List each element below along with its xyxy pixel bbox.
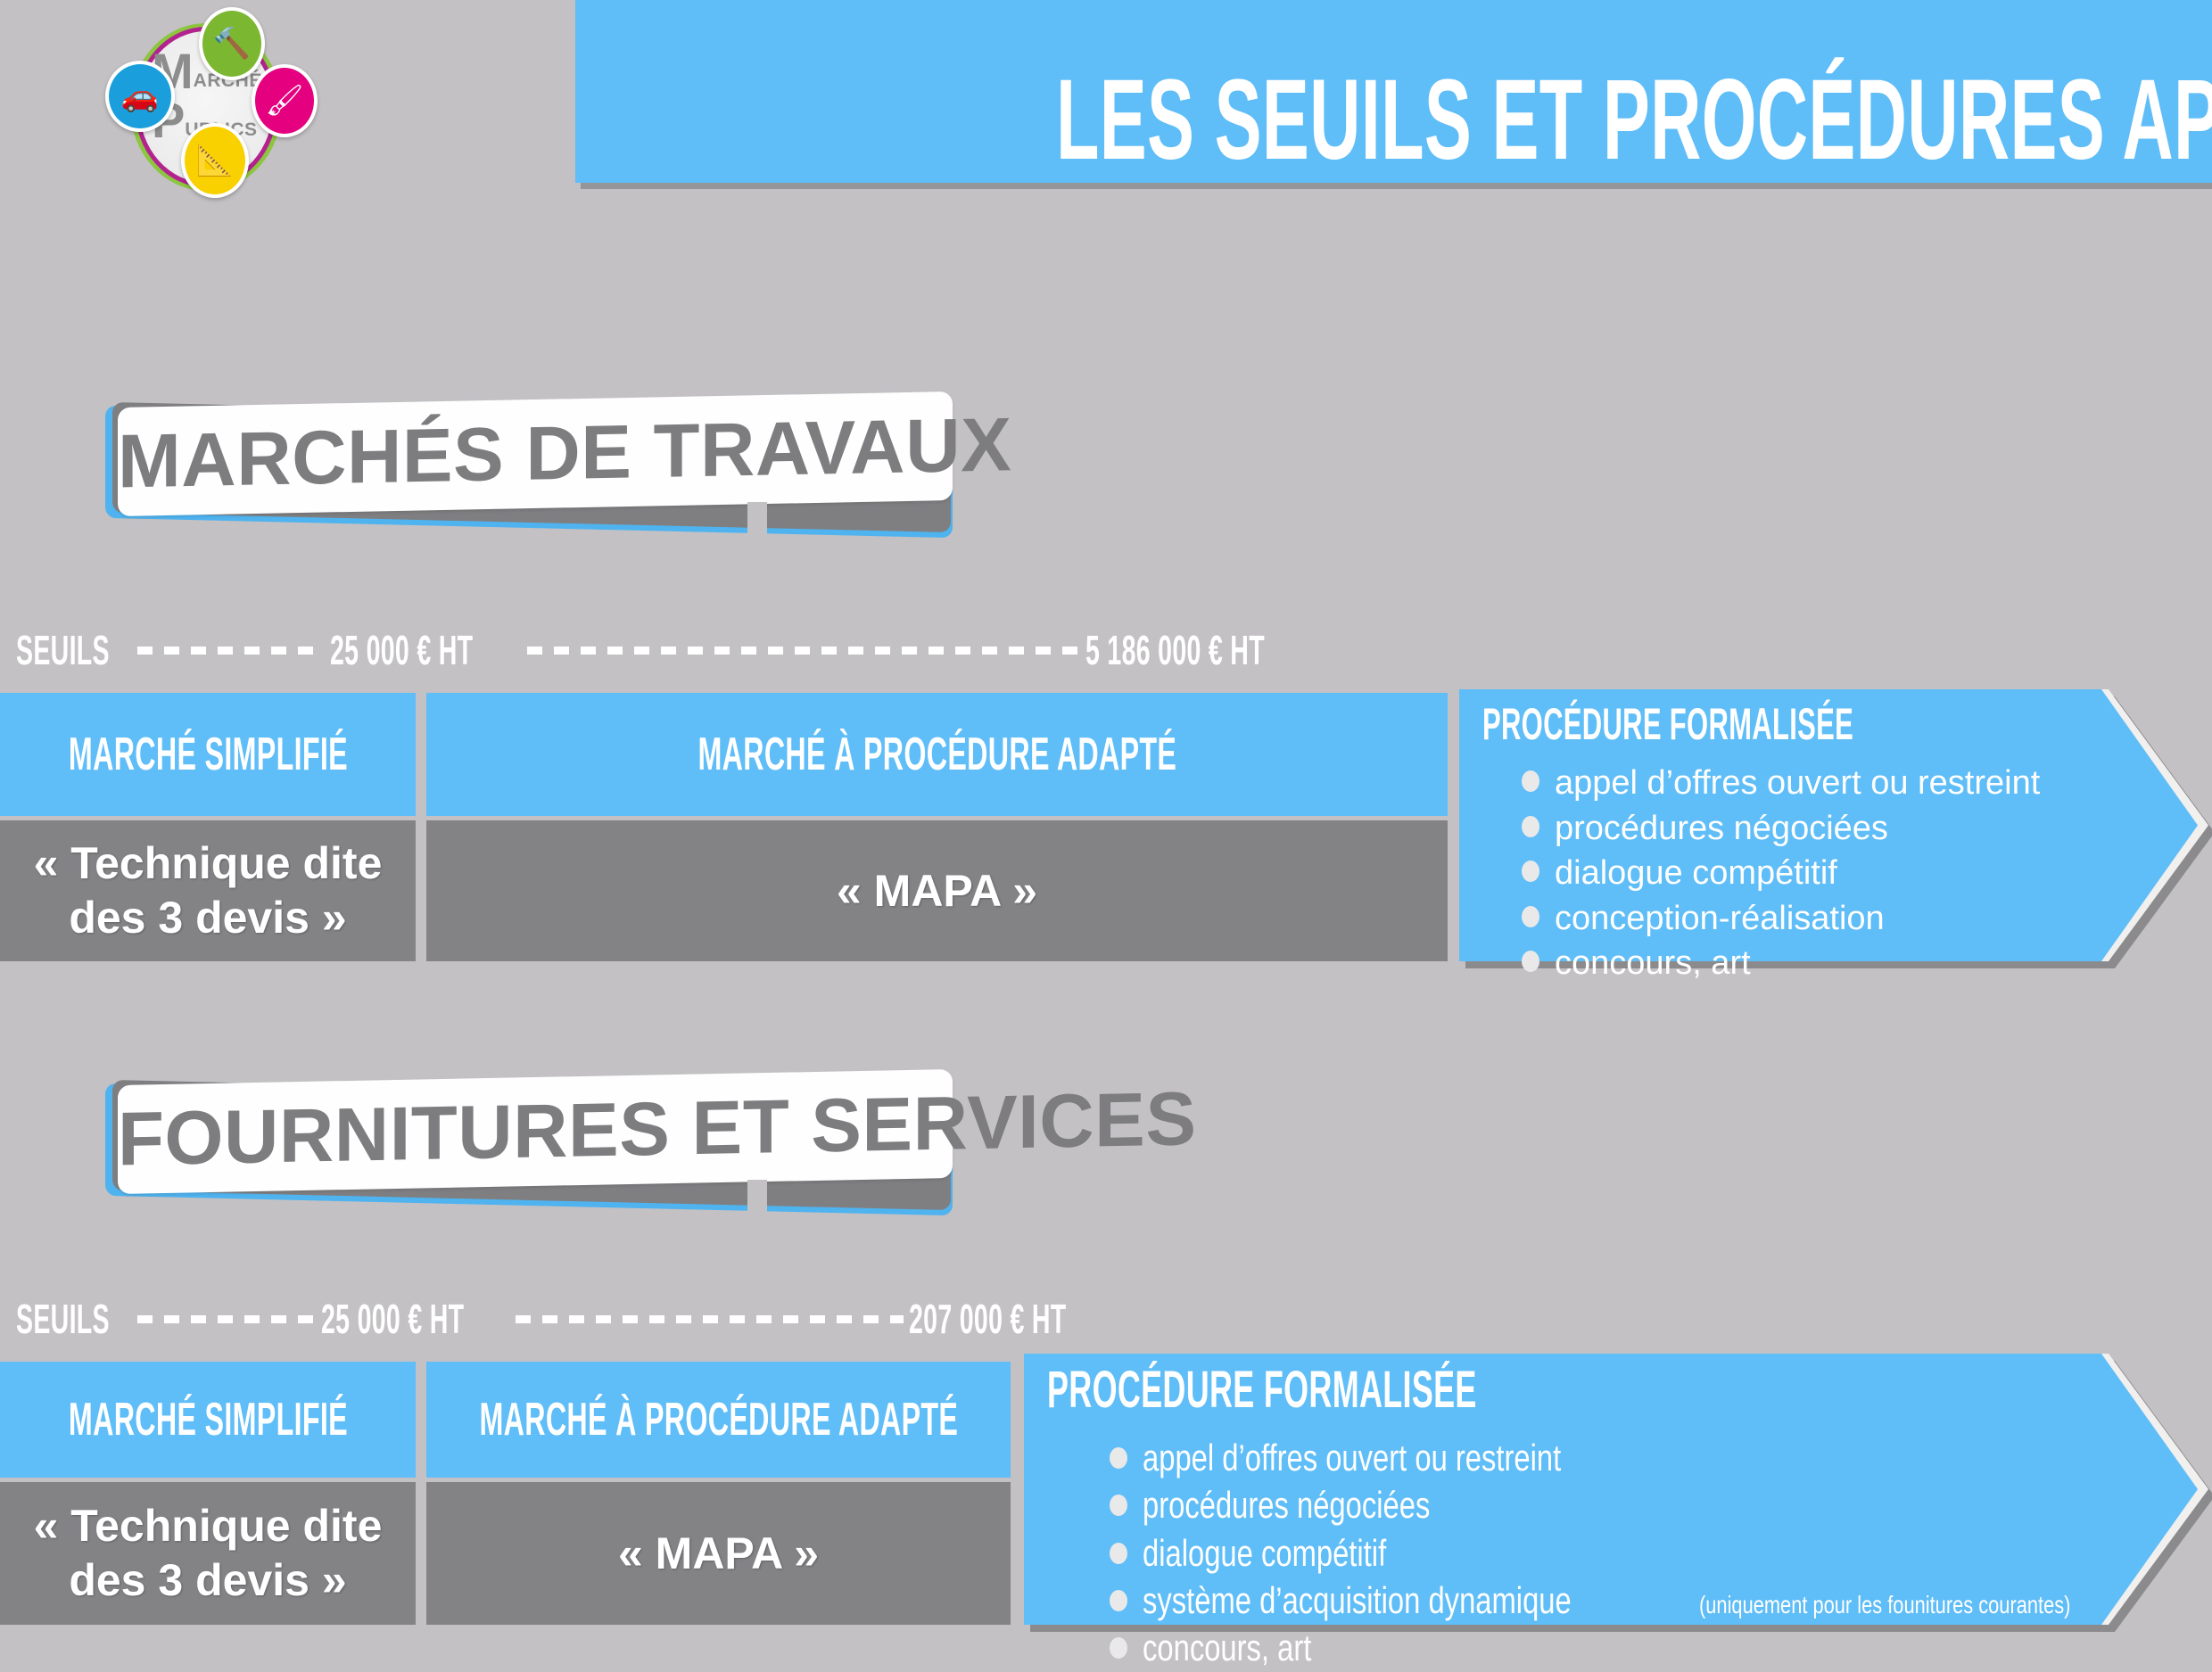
col-body-marche-simplifie-2: « Technique dite des 3 devis »: [0, 1482, 416, 1625]
list-item: appel d’offres ouvert ou restreint: [1522, 761, 2040, 806]
col-body-mapa-2: « MAPA »: [426, 1482, 1011, 1625]
slide-canvas: M ARCHÉS P UBLICS 🔨 🖌 🚗 📐 LES SEUILS ET …: [0, 0, 2212, 1638]
bullet-icon: [1522, 861, 1539, 882]
bullet-icon: [1522, 906, 1539, 927]
electric-car-icon: 🚗: [105, 61, 175, 132]
section-banner-travaux: MARCHÉS DE TRAVAUX: [105, 399, 953, 529]
bullet-icon: [1110, 1590, 1127, 1611]
bullet-icon: [1110, 1543, 1127, 1564]
dash-line-1: [137, 647, 325, 655]
arrow-item-list: appel d’offres ouvert ou restreint procé…: [1110, 1434, 2175, 1672]
arrow-procedure-formalisee-travaux: PROCÉDURE FORMALISÉE appel d’offres ouve…: [1459, 689, 2208, 961]
banner-notch: [747, 1180, 767, 1212]
col-header-marche-simplifie: MARCHÉ SIMPLIFIÉ: [0, 693, 416, 816]
list-item: dialogue compétitif: [1522, 851, 2040, 896]
bullet-icon: [1522, 770, 1539, 792]
dash-line-1: [137, 1315, 316, 1323]
seuils-line-fournitures: SEUILS 25 000 € HT 207 000 € HT: [16, 1295, 1675, 1343]
list-item: appel d’offres ouvert ou restreint: [1110, 1434, 2175, 1481]
bullet-icon: [1522, 951, 1539, 972]
dash-line-2: [527, 647, 1080, 655]
compass-icon: 📐: [181, 123, 249, 198]
title-banner: LES SEUILS ET PROCÉDURES APPLICABLES: [575, 0, 2212, 183]
bullet-icon: [1110, 1447, 1127, 1469]
banner-label: FOURNITURES ET SERVICES: [118, 1124, 953, 1140]
col-body-marche-simplifie: « Technique dite des 3 devis »: [0, 820, 416, 961]
seuils-label: SEUILS: [16, 626, 88, 674]
list-item: concours, art: [1110, 1624, 2175, 1671]
dash-line-2: [516, 1315, 904, 1323]
bullet-icon: [1110, 1637, 1127, 1659]
bullet-icon: [1110, 1495, 1127, 1516]
bullet-icon: [1522, 816, 1539, 837]
list-item-note: (uniquement pour les founitures courante…: [1699, 1589, 2070, 1621]
threshold-high: 5 186 000 € HT: [1085, 626, 1246, 674]
seuils-line-travaux: SEUILS 25 000 € HT 5 186 000 € HT: [16, 626, 1675, 674]
arrow-item-list: appel d’offres ouvert ou restreint procé…: [1522, 761, 2040, 986]
col-header-mapa-2: MARCHÉ À PROCÉDURE ADAPTÉ: [426, 1362, 1011, 1478]
banner-face: MARCHÉS DE TRAVAUX: [118, 391, 953, 516]
threshold-low: 25 000 € HT: [321, 1295, 438, 1343]
threshold-low: 25 000 € HT: [330, 626, 449, 674]
logo: M ARCHÉS P UBLICS 🔨 🖌 🚗 📐: [105, 5, 306, 202]
banner-face: FOURNITURES ET SERVICES: [118, 1069, 953, 1194]
banner-notch: [747, 502, 767, 534]
col-body-mapa: « MAPA »: [426, 820, 1448, 961]
list-item: procédures négociées: [1110, 1481, 2175, 1528]
hammer-icon: 🔨: [199, 7, 265, 80]
threshold-high: 207 000 € HT: [909, 1295, 1052, 1343]
list-item: conception-réalisation: [1522, 896, 2040, 942]
page-title: LES SEUILS ET PROCÉDURES APPLICABLES: [575, 63, 2212, 177]
list-item: procédures négociées: [1522, 806, 2040, 852]
section-banner-fournitures: FOURNITURES ET SERVICES: [105, 1077, 953, 1207]
arrow-title: PROCÉDURE FORMALISÉE: [1047, 1364, 1740, 1416]
arrow-title: PROCÉDURE FORMALISÉE: [1482, 702, 2081, 746]
col-header-mapa: MARCHÉ À PROCÉDURE ADAPTÉ: [426, 693, 1448, 816]
arrow-procedure-formalisee-fournitures: PROCÉDURE FORMALISÉE appel d’offres ouve…: [1024, 1354, 2208, 1625]
paintbrush-icon: 🖌: [252, 64, 318, 137]
list-item: système d’acquisition dynamique(uniqueme…: [1110, 1577, 2175, 1624]
banner-label: MARCHÉS DE TRAVAUX: [118, 446, 953, 462]
list-item: concours, art: [1522, 941, 2040, 986]
list-item: dialogue compétitif: [1110, 1529, 2175, 1577]
seuils-label: SEUILS: [16, 1295, 88, 1343]
